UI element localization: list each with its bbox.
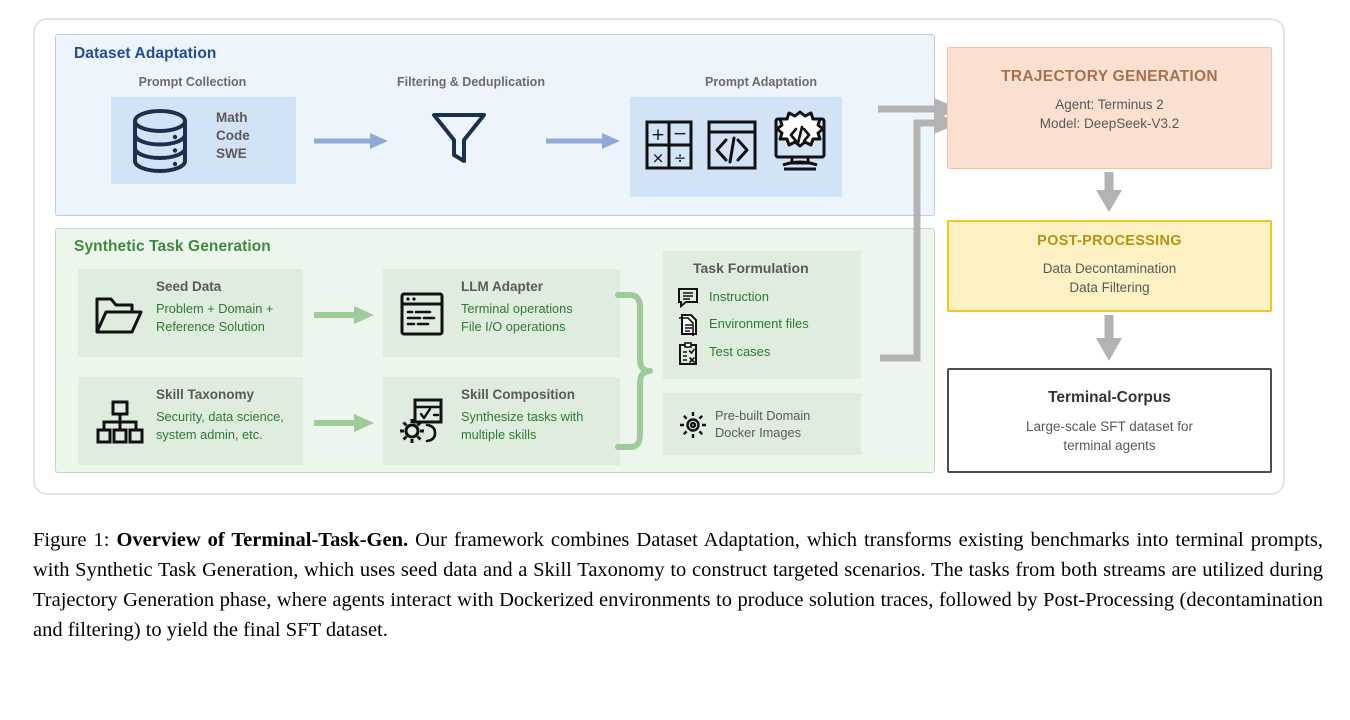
dataset-adaptation-panel: Dataset Adaptation Prompt Collection Fil… xyxy=(55,34,935,216)
post-processing-title: POST-PROCESSING xyxy=(949,233,1270,249)
card-title-llm-adapter: LLM Adapter xyxy=(461,279,543,294)
gear-icon xyxy=(677,409,709,441)
task-formulation-box: Task Formulation Instruction Environment… xyxy=(663,251,861,379)
code-window-icon xyxy=(706,119,758,171)
llm-adapter-line-1: Terminal operations xyxy=(461,300,573,318)
post-processing-lines: Data Decontamination Data Filtering xyxy=(949,259,1270,297)
figure-caption: Figure 1: Overview of Terminal-Task-Gen.… xyxy=(33,525,1323,645)
card-sub-seed-data: Problem + Domain + Reference Solution xyxy=(156,300,273,335)
card-skill-composition: Skill Composition Synthesize tasks with … xyxy=(383,377,620,465)
skill-taxonomy-line-1: Security, data science, xyxy=(156,408,284,426)
prebuilt-docker-text: Pre-built Domain Docker Images xyxy=(715,407,810,441)
task-formulation-item-instruction: Instruction xyxy=(709,289,769,304)
card-title-seed-data: Seed Data xyxy=(156,279,221,294)
post-line-decontamination: Data Decontamination xyxy=(949,259,1270,278)
label-math: Math xyxy=(216,109,250,127)
caption-bold-title: Overview of Terminal-Task-Gen. xyxy=(116,529,408,551)
svg-text:+: + xyxy=(651,125,665,145)
terminal-corpus-title: Terminal-Corpus xyxy=(949,389,1270,407)
prebuilt-line-2: Docker Images xyxy=(715,424,810,441)
card-llm-adapter: LLM Adapter Terminal operations File I/O… xyxy=(383,269,620,357)
task-formulation-title: Task Formulation xyxy=(693,260,809,276)
corpus-line-1: Large-scale SFT dataset for xyxy=(949,417,1270,436)
arrow-right-2 xyxy=(546,131,624,151)
skill-composition-line-2: multiple skills xyxy=(461,426,583,444)
terminal-corpus-lines: Large-scale SFT dataset for terminal age… xyxy=(949,417,1270,455)
funnel-icon xyxy=(428,107,490,169)
svg-text:×: × xyxy=(652,149,665,167)
svg-text:−: − xyxy=(673,124,687,144)
card-skill-taxonomy: Skill Taxonomy Security, data science, s… xyxy=(78,377,303,465)
column-heading-filtering-dedup: Filtering & Deduplication xyxy=(341,75,601,89)
arrow-right-1 xyxy=(314,131,392,151)
brace-connector-icon xyxy=(612,291,652,451)
seed-data-line-1: Problem + Domain + xyxy=(156,300,273,318)
dataset-adaptation-title: Dataset Adaptation xyxy=(74,45,216,63)
monitor-code-icon xyxy=(770,111,830,175)
post-line-filtering: Data Filtering xyxy=(949,278,1270,297)
prompt-collection-labels: Math Code SWE xyxy=(216,109,250,163)
skill-taxonomy-line-2: system admin, etc. xyxy=(156,426,284,444)
synthetic-task-generation-title: Synthetic Task Generation xyxy=(74,238,271,256)
trajectory-generation-lines: Agent: Terminus 2 Model: DeepSeek-V3.2 xyxy=(948,95,1271,133)
seed-data-line-2: Reference Solution xyxy=(156,318,273,336)
card-seed-data: Seed Data Problem + Domain + Reference S… xyxy=(78,269,303,357)
hierarchy-icon xyxy=(96,399,144,445)
prompt-collection-tile: Math Code SWE xyxy=(111,97,296,184)
folder-icon xyxy=(94,293,144,337)
label-swe: SWE xyxy=(216,145,250,163)
skill-composition-line-1: Synthesize tasks with xyxy=(461,408,583,426)
card-sub-skill-taxonomy: Security, data science, system admin, et… xyxy=(156,408,284,443)
documents-icon xyxy=(677,314,699,337)
terminal-window-icon xyxy=(399,291,445,337)
trajectory-generation-title: TRAJECTORY GENERATION xyxy=(948,68,1271,86)
column-heading-prompt-adaptation: Prompt Adaptation xyxy=(646,75,876,89)
column-heading-prompt-collection: Prompt Collection xyxy=(80,75,305,89)
llm-adapter-line-2: File I/O operations xyxy=(461,318,573,336)
prebuilt-docker-box: Pre-built Domain Docker Images xyxy=(663,393,861,455)
trajectory-generation-box: TRAJECTORY GENERATION Agent: Terminus 2 … xyxy=(947,47,1272,169)
calculator-icon: + − × ÷ xyxy=(644,119,694,171)
task-formulation-item-environment-files: Environment files xyxy=(709,316,809,331)
task-formulation-item-test-cases: Test cases xyxy=(709,344,770,359)
card-title-skill-taxonomy: Skill Taxonomy xyxy=(156,387,254,402)
card-sub-skill-composition: Synthesize tasks with multiple skills xyxy=(461,408,583,443)
synthetic-task-generation-panel: Synthetic Task Generation Seed Data Prob… xyxy=(55,228,935,473)
arrow-right-seed-to-adapter xyxy=(314,305,376,325)
corpus-line-2: terminal agents xyxy=(949,436,1270,455)
speech-bubble-icon xyxy=(677,287,699,308)
database-icon xyxy=(129,107,191,175)
card-title-skill-composition: Skill Composition xyxy=(461,387,575,402)
trajectory-line-model: Model: DeepSeek-V3.2 xyxy=(948,114,1271,133)
clipboard-check-icon xyxy=(677,342,699,366)
label-code: Code xyxy=(216,127,250,145)
figure-1-diagram: Dataset Adaptation Prompt Collection Fil… xyxy=(0,0,1350,720)
prebuilt-line-1: Pre-built Domain xyxy=(715,407,810,424)
caption-prefix: Figure 1: xyxy=(33,529,109,551)
post-processing-box: POST-PROCESSING Data Decontamination Dat… xyxy=(947,220,1272,312)
card-sub-llm-adapter: Terminal operations File I/O operations xyxy=(461,300,573,335)
arrow-right-taxonomy-to-composition xyxy=(314,413,376,433)
trajectory-line-agent: Agent: Terminus 2 xyxy=(948,95,1271,114)
svg-text:÷: ÷ xyxy=(674,149,687,167)
terminal-corpus-box: Terminal-Corpus Large-scale SFT dataset … xyxy=(947,368,1272,473)
prompt-adaptation-tile: + − × ÷ xyxy=(630,97,842,197)
gear-checklist-icon xyxy=(395,397,447,447)
